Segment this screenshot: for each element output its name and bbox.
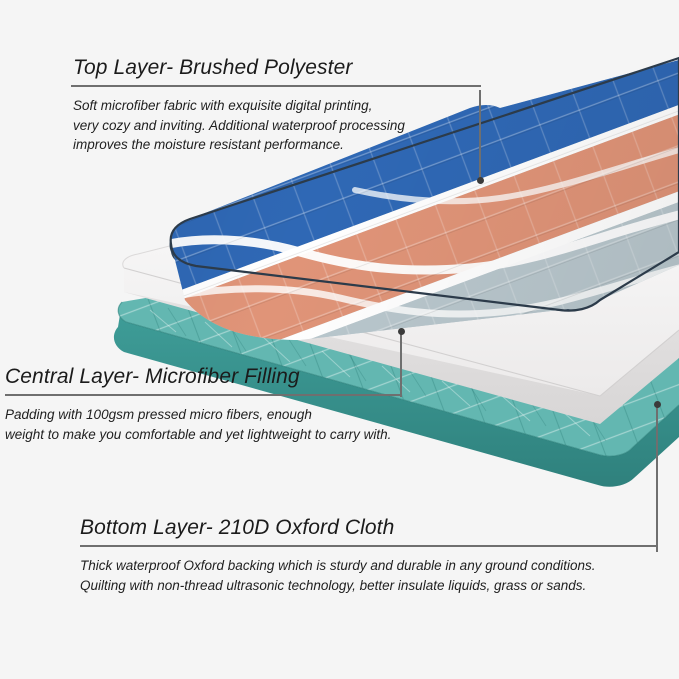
callout-central-layer: Central Layer- Microfiber Filling Paddin…: [5, 365, 401, 444]
callout-top-rule: [71, 85, 481, 87]
callout-central-body-line: Padding with 100gsm pressed micro fibers…: [5, 405, 401, 425]
callout-central-heading: Central Layer- Microfiber Filling: [5, 365, 401, 389]
leader-line-central-layer: [400, 331, 402, 397]
callout-central-body: Padding with 100gsm pressed micro fibers…: [5, 405, 401, 444]
callout-top-heading: Top Layer- Brushed Polyester: [73, 56, 481, 80]
callout-central-body-line: weight to make you comfortable and yet l…: [5, 425, 401, 445]
leader-dot-top-layer: [477, 177, 484, 184]
leader-dot-bottom-layer: [654, 401, 661, 408]
infographic-canvas: Top Layer- Brushed Polyester Soft microf…: [0, 0, 679, 679]
callout-bottom-body-line: Quilting with non-thread ultrasonic tech…: [80, 576, 657, 596]
leader-dot-central-layer: [398, 328, 405, 335]
callout-top-body: Soft microfiber fabric with exquisite di…: [73, 96, 481, 155]
leader-line-bottom-layer: [656, 405, 658, 552]
callout-top-body-line: very cozy and inviting. Additional water…: [73, 116, 481, 136]
callout-bottom-rule: [80, 545, 657, 547]
callout-bottom-layer: Bottom Layer- 210D Oxford Cloth Thick wa…: [80, 516, 657, 595]
callout-top-body-line: improves the moisture resistant performa…: [73, 135, 481, 155]
callout-bottom-heading: Bottom Layer- 210D Oxford Cloth: [80, 516, 657, 540]
callout-top-layer: Top Layer- Brushed Polyester Soft microf…: [71, 56, 481, 155]
callout-bottom-body-line: Thick waterproof Oxford backing which is…: [80, 556, 657, 576]
callout-bottom-body: Thick waterproof Oxford backing which is…: [80, 556, 657, 595]
callout-central-rule: [5, 394, 401, 396]
callout-top-body-line: Soft microfiber fabric with exquisite di…: [73, 96, 481, 116]
leader-line-top-layer: [479, 90, 481, 182]
